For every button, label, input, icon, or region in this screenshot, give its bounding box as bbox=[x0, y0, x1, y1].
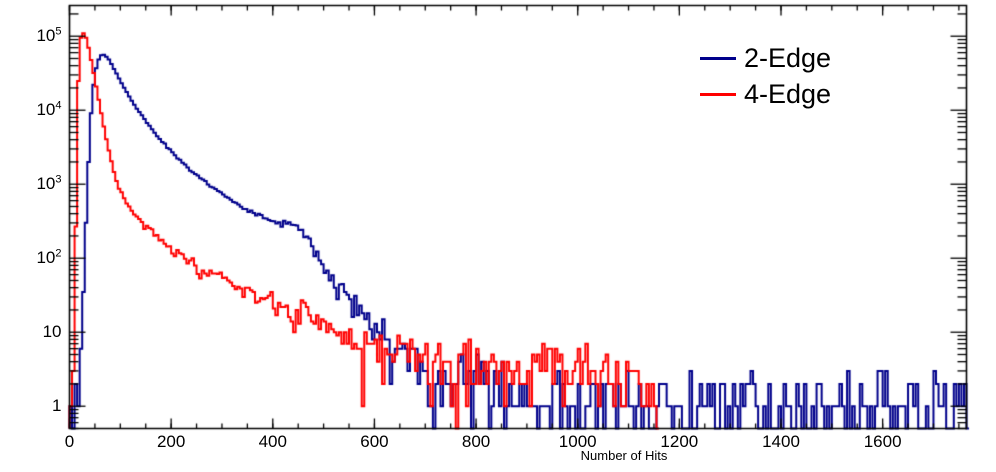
x-axis-title: Number of Hits bbox=[581, 448, 668, 463]
y-tick-label-1000: 103 bbox=[36, 174, 61, 194]
legend-line-swatch-4-edge bbox=[700, 93, 736, 96]
x-tick-label-800: 800 bbox=[462, 432, 490, 452]
y-tick-label-1: 1 bbox=[52, 396, 61, 416]
y-tick-label-10: 10 bbox=[43, 322, 62, 342]
x-tick-label-1600: 1600 bbox=[864, 432, 902, 452]
legend-label-4-edge: 4-Edge bbox=[744, 81, 831, 108]
y-tick-label-100: 102 bbox=[36, 248, 61, 268]
legend-entry-4-edge[interactable]: 4-Edge bbox=[700, 76, 930, 112]
legend: 2-Edge 4-Edge bbox=[700, 40, 930, 112]
x-tick-label-400: 400 bbox=[259, 432, 287, 452]
x-tick-label-600: 600 bbox=[360, 432, 388, 452]
y-tick-label-10000: 104 bbox=[36, 100, 61, 120]
legend-line-swatch-2-edge bbox=[700, 57, 736, 60]
x-tick-label-0: 0 bbox=[65, 432, 74, 452]
legend-label-2-edge: 2-Edge bbox=[744, 45, 831, 72]
plot-root: 02004006008001000120014001600 1101021031… bbox=[0, 0, 996, 472]
x-tick-label-200: 200 bbox=[157, 432, 185, 452]
legend-entry-2-edge[interactable]: 2-Edge bbox=[700, 40, 930, 76]
x-tick-label-1400: 1400 bbox=[762, 432, 800, 452]
y-tick-label-100000: 105 bbox=[36, 26, 61, 46]
